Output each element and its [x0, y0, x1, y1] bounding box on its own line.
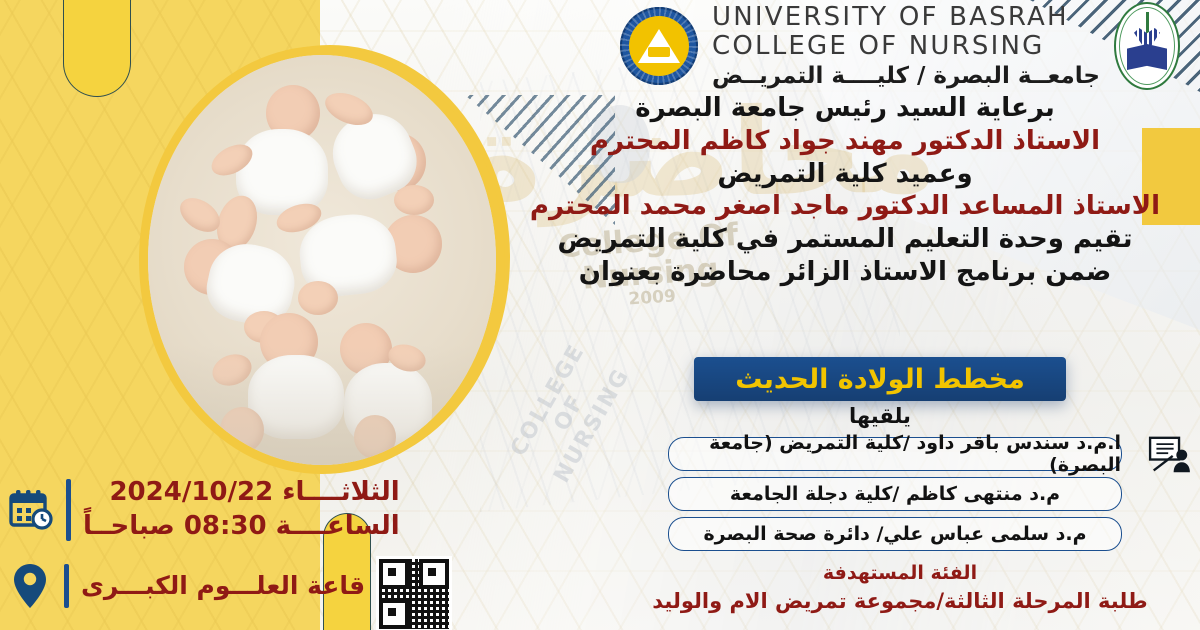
event-venue-row: قاعة العلـــوم الكبـــرى	[8, 562, 365, 610]
lecture-presenter-icon	[1148, 436, 1192, 474]
location-pin-icon	[8, 562, 52, 610]
seal-inner	[629, 16, 689, 76]
qr-eye-top-left	[379, 559, 409, 589]
speaker-pill-2: م.د منتهى كاظم /كلية دجلة الجامعة	[668, 477, 1122, 511]
qr-code[interactable]	[376, 556, 452, 630]
photo-bottom-gradient	[148, 345, 496, 465]
college-of-nursing-logo-icon	[1114, 2, 1180, 90]
decor-tab-top	[63, 0, 131, 97]
speaker-pill-3: م.د سلمى عباس علي/ دائرة صحة البصرة	[668, 517, 1122, 551]
audience-heading: الفئة المستهدفة	[600, 562, 1200, 584]
body-text-block: برعاية السيد رئيس جامعة البصرة الاستاذ ا…	[500, 92, 1190, 289]
qr-eye-top-right	[419, 559, 449, 589]
lecture-title-banner: مخطط الولادة الحديث	[694, 357, 1066, 401]
qr-code-modules	[379, 559, 449, 629]
target-audience-block: الفئة المستهدفة طلبة المرحلة الثالثة/مجم…	[600, 562, 1200, 613]
header-english-line-2: COLLEGE OF NURSING	[712, 32, 1100, 61]
header-english-line-1: UNIVERSITY OF BASRAH	[712, 3, 1100, 32]
lecture-title-text: مخطط الولادة الحديث	[735, 364, 1025, 395]
body-line-6: ضمن برنامج الاستاذ الزائر محاضرة بعنوان	[500, 256, 1190, 289]
seal-triangle-glyph	[638, 29, 680, 63]
header-arabic-line: جامعــة البصرة / كليــــة التمريــض	[712, 63, 1100, 89]
speaker-pill-1: ا.م.د سندس باقر داود /كلية التمريض (جامع…	[668, 437, 1122, 471]
venue-divider	[64, 564, 69, 608]
audience-detail: طلبة المرحلة الثالثة/مجموعة تمريض الام و…	[600, 589, 1200, 613]
body-line-5: تقيم وحدة التعليم المستمر في كلية التمري…	[500, 223, 1190, 256]
header: UNIVERSITY OF BASRAH COLLEGE OF NURSING …	[620, 4, 1180, 88]
newborn-babies-photo	[148, 55, 496, 465]
body-line-3: وعميد كلية التمريض	[500, 158, 1190, 191]
calendar-clock-icon	[8, 488, 54, 532]
body-line-1: برعاية السيد رئيس جامعة البصرة	[500, 92, 1190, 125]
event-datetime-row: الثلاثــــاء 2024/10/22 الساعــــة 08:30…	[8, 476, 400, 544]
header-titles: UNIVERSITY OF BASRAH COLLEGE OF NURSING …	[712, 3, 1100, 89]
body-line-2: الاستاذ الدكتور مهند جواد كاظم المحترم	[500, 125, 1190, 158]
datetime-divider	[66, 479, 71, 541]
event-date: الثلاثــــاء 2024/10/22	[83, 476, 400, 510]
event-venue-text: قاعة العلـــوم الكبـــرى	[81, 570, 365, 603]
event-datetime-text: الثلاثــــاء 2024/10/22 الساعــــة 08:30…	[83, 476, 400, 544]
body-line-4: الاستاذ المساعد الدكتور ماجد اصغر محمد ا…	[500, 190, 1190, 223]
presented-by-label: يلقيها	[694, 404, 1066, 428]
basrah-university-seal-icon	[620, 7, 698, 85]
poster-canvas: محاضرة College Of Nursing 2009 COLLEGE O…	[0, 0, 1200, 630]
event-time: الساعــــة 08:30 صباحــاً	[83, 510, 400, 544]
qr-eye-bottom-left	[379, 599, 409, 629]
